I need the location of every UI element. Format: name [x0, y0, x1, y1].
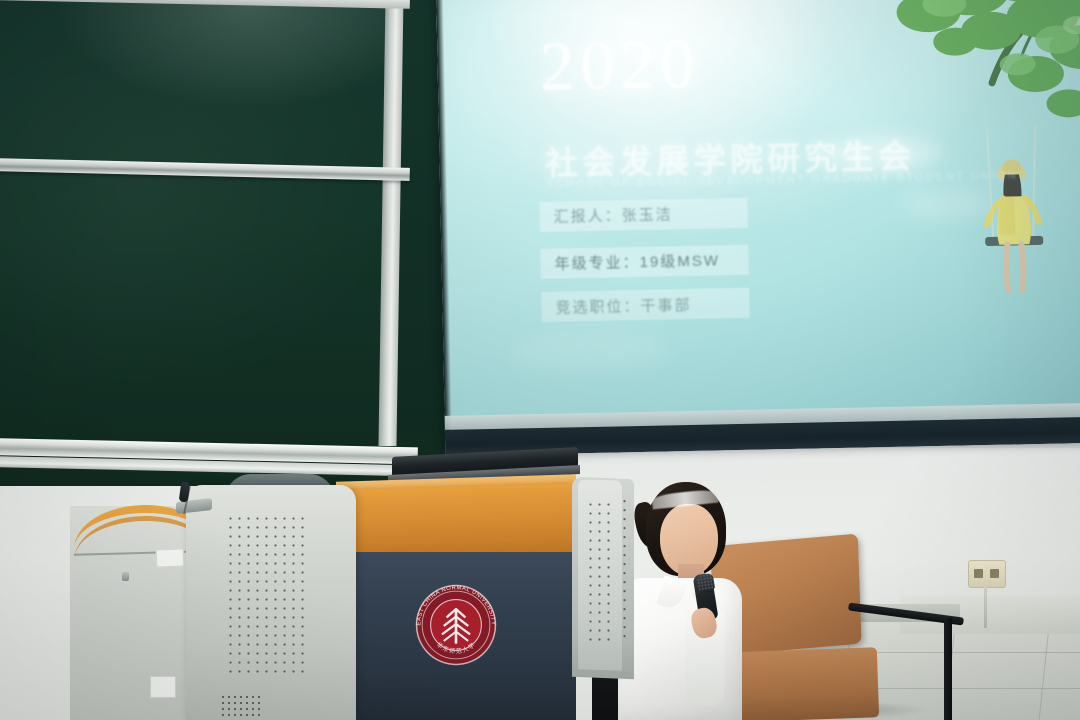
- podium-speaker-column-grille: [586, 500, 616, 642]
- podium-wood-front: [336, 484, 572, 561]
- cabinet-lock-icon[interactable]: [122, 572, 129, 581]
- classroom-photo: 2020 社会发展学院研究生会 SCHOOL OF SOCIAL DEVELOP…: [0, 0, 1080, 720]
- cabinet-label-lower: [150, 676, 176, 698]
- av-console-grille: [226, 514, 304, 674]
- av-console-grille-lower: [220, 694, 260, 716]
- chair-arm-post: [944, 618, 952, 720]
- university-emblem-icon: EAST CHINA NORMAL UNIVERSITY 华东师范大学: [409, 578, 503, 672]
- microphone-grille: [696, 573, 715, 591]
- power-outlet[interactable]: [968, 560, 1006, 588]
- screen-vignette: [436, 0, 1080, 456]
- projected-slide: 2020 社会发展学院研究生会 SCHOOL OF SOCIAL DEVELOP…: [436, 0, 1080, 456]
- outlet-cord: [984, 586, 987, 628]
- cabinet-label: [156, 549, 185, 568]
- projection-screen: 2020 社会发展学院研究生会 SCHOOL OF SOCIAL DEVELOP…: [436, 0, 1080, 456]
